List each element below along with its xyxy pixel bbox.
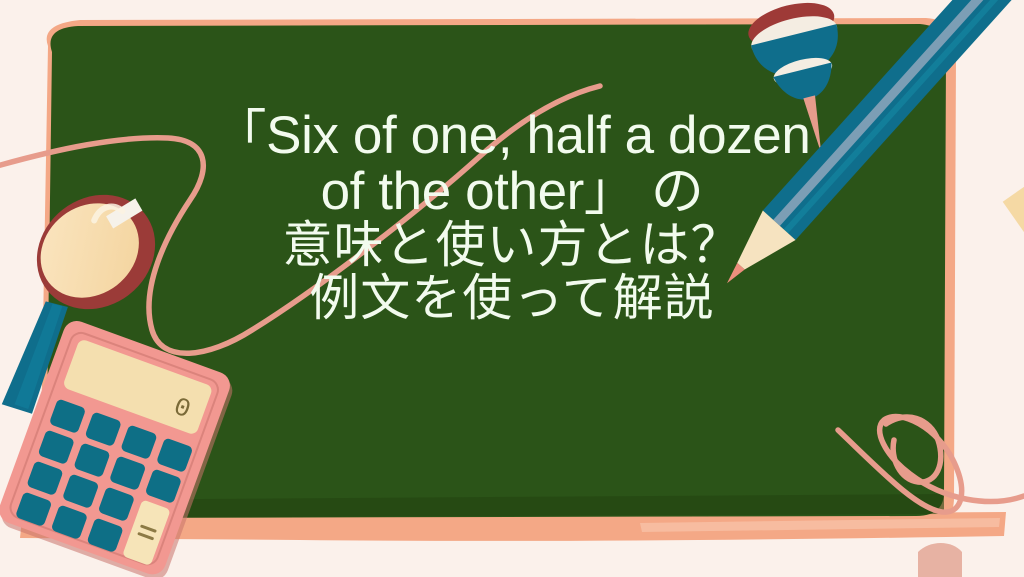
poster-canvas: 0 xyxy=(0,0,1024,577)
eraser-icon xyxy=(918,543,962,577)
artwork-layer: 0 xyxy=(0,0,1024,577)
